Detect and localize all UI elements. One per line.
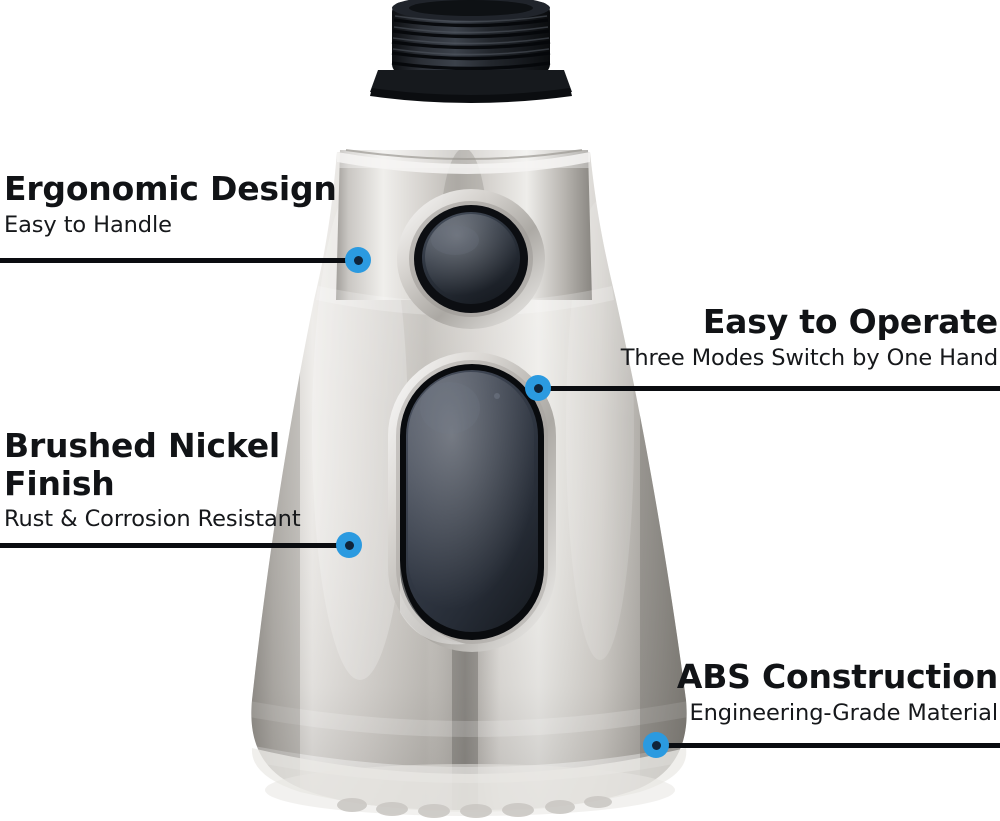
marker-dot-abs-construction[interactable]: [643, 732, 669, 758]
marker-dot-brushed-nickel-finish[interactable]: [336, 532, 362, 558]
callout-title-brushed-nickel-finish: Brushed Nickel Finish: [4, 427, 301, 502]
marker-dot-easy-to-operate[interactable]: [525, 375, 551, 401]
callout-subtitle-ergonomic-design: Easy to Handle: [4, 212, 337, 239]
callout-brushed-nickel-finish: Brushed Nickel Finish Rust & Corrosion R…: [4, 427, 301, 533]
leader-line-abs-construction: [657, 743, 1000, 748]
callout-title-abs-construction: ABS Construction: [677, 658, 998, 696]
callout-subtitle-easy-to-operate: Three Modes Switch by One Hand: [621, 345, 998, 372]
leader-line-ergonomic-design: [0, 258, 360, 263]
callout-title-ergonomic-design: Ergonomic Design: [4, 170, 337, 208]
leader-line-brushed-nickel-finish: [0, 543, 350, 548]
round-button-graphic: [397, 189, 545, 329]
infographic-canvas: Ergonomic Design Easy to Handle Easy to …: [0, 0, 1000, 821]
callout-easy-to-operate: Easy to Operate Three Modes Switch by On…: [621, 303, 998, 372]
leader-line-easy-to-operate: [540, 386, 1000, 391]
callout-subtitle-brushed-nickel-finish: Rust & Corrosion Resistant: [4, 506, 301, 533]
callout-title-easy-to-operate: Easy to Operate: [621, 303, 998, 341]
callout-subtitle-abs-construction: Engineering-Grade Material: [677, 700, 998, 727]
marker-dot-ergonomic-design[interactable]: [345, 247, 371, 273]
inlet-thread-graphic: [370, 0, 572, 103]
callout-ergonomic-design: Ergonomic Design Easy to Handle: [4, 170, 337, 239]
callout-abs-construction: ABS Construction Engineering-Grade Mater…: [677, 658, 998, 727]
